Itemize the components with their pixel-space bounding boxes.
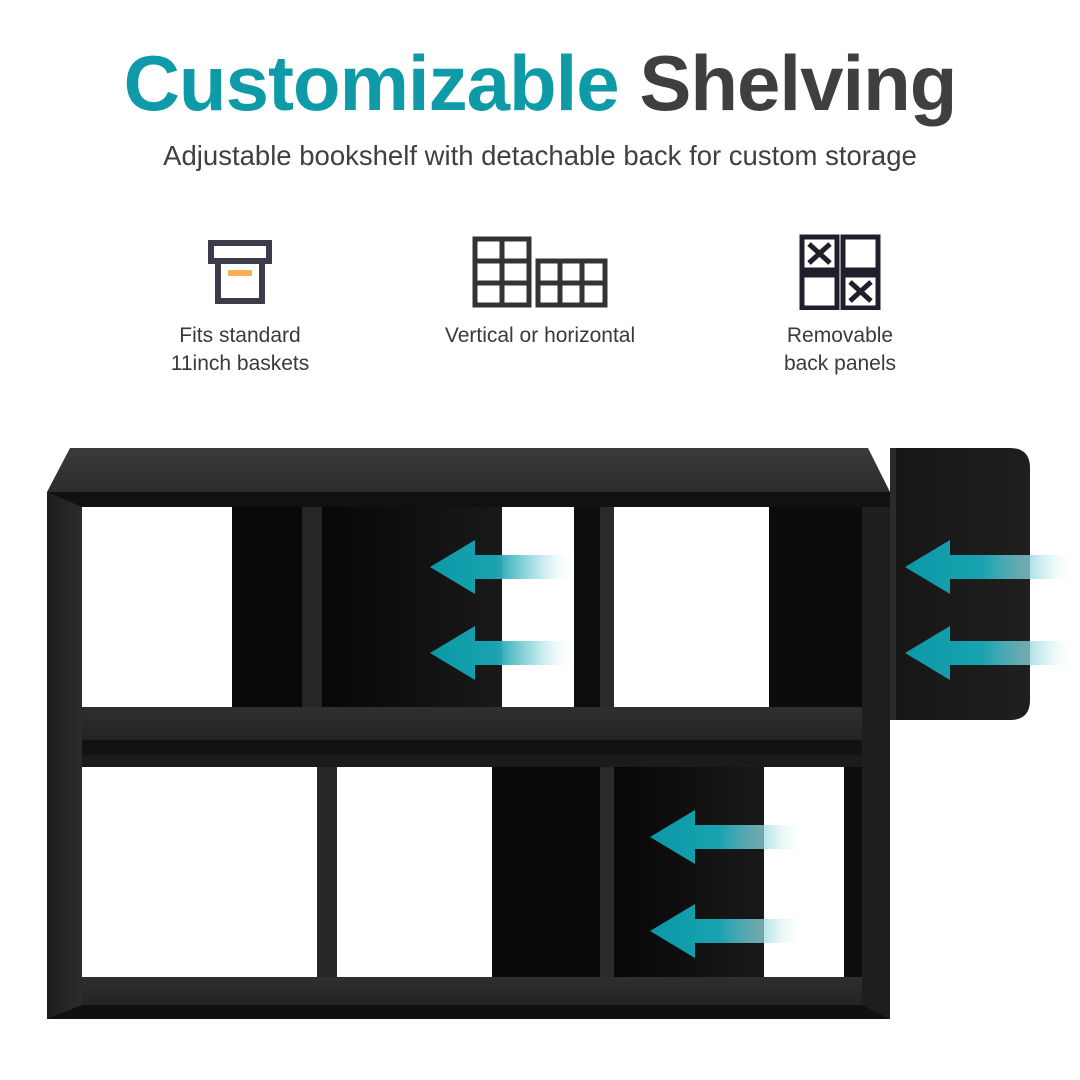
bottom-board-front-edge [47, 1005, 890, 1019]
removable-panels-icon [799, 232, 881, 312]
cube-bottom-right-inner-wall [844, 767, 862, 977]
shelf-top-surface [47, 448, 890, 492]
feature-label-orientation: Vertical or horizontal [445, 322, 635, 350]
divider-vertical-1 [302, 507, 322, 707]
feature-item-orientation: Vertical or horizontal [390, 232, 690, 350]
middle-shelf-shadow [47, 755, 890, 767]
shelf-top-front-edge [47, 492, 890, 507]
feature-label-baskets: Fits standard 11inch baskets [171, 322, 310, 379]
cube-bottom-right-opening [764, 767, 844, 977]
cube-top-right-inner-wall [769, 507, 862, 707]
feature-label-removable-panels-line2: back panels [784, 350, 896, 378]
shelf-carcass [47, 448, 890, 1019]
product-illustration [0, 400, 1080, 1080]
feature-label-baskets-line1: Fits standard [171, 322, 310, 350]
divider-vertical-2b [600, 767, 614, 977]
feature-list: Fits standard 11inch baskets [0, 232, 1080, 392]
cube-top-left-inner-wall [232, 507, 302, 707]
cube-top-middle-back-panel [322, 507, 502, 707]
detached-back-panel [890, 448, 1030, 720]
feature-item-removable-panels: Removable back panels [690, 232, 990, 379]
infographic-page: Customizable Shelving Adjustable bookshe… [0, 0, 1080, 1080]
cube-top-middle-opening [502, 507, 574, 707]
side-panel-right [862, 507, 890, 1019]
page-subtitle: Adjustable bookshelf with detachable bac… [0, 124, 1080, 172]
divider-vertical-2 [600, 507, 614, 707]
bottom-board-surface [47, 977, 890, 1005]
cube-bottom-middle-inner-wall [492, 767, 600, 977]
cube-top-left-opening [82, 507, 232, 707]
cube-top-right-opening [614, 507, 769, 707]
middle-shelf-surface [47, 707, 890, 740]
cube-bottom-right-back-panel [614, 767, 764, 977]
middle-shelf-front-edge [47, 740, 890, 755]
title-accent-text: Customizable [124, 39, 619, 127]
feature-label-baskets-line2: 11inch baskets [171, 350, 310, 378]
cube-top-middle-inner-wall [574, 507, 600, 707]
feature-label-removable-panels: Removable back panels [784, 322, 896, 379]
header: Customizable Shelving Adjustable bookshe… [0, 0, 1080, 172]
page-title: Customizable Shelving [0, 0, 1080, 124]
grid-orientation-icon [472, 232, 608, 312]
feature-label-removable-panels-line1: Removable [784, 322, 896, 350]
feature-item-baskets: Fits standard 11inch baskets [90, 232, 390, 379]
side-panel-left [47, 492, 82, 1019]
title-rest-text: Shelving [619, 39, 957, 127]
cube-bottom-left-opening [82, 767, 317, 977]
storage-basket-icon [203, 232, 277, 312]
divider-vertical-1b [317, 767, 337, 977]
feature-label-orientation-line1: Vertical or horizontal [445, 322, 635, 350]
cube-bottom-middle-opening [337, 767, 492, 977]
